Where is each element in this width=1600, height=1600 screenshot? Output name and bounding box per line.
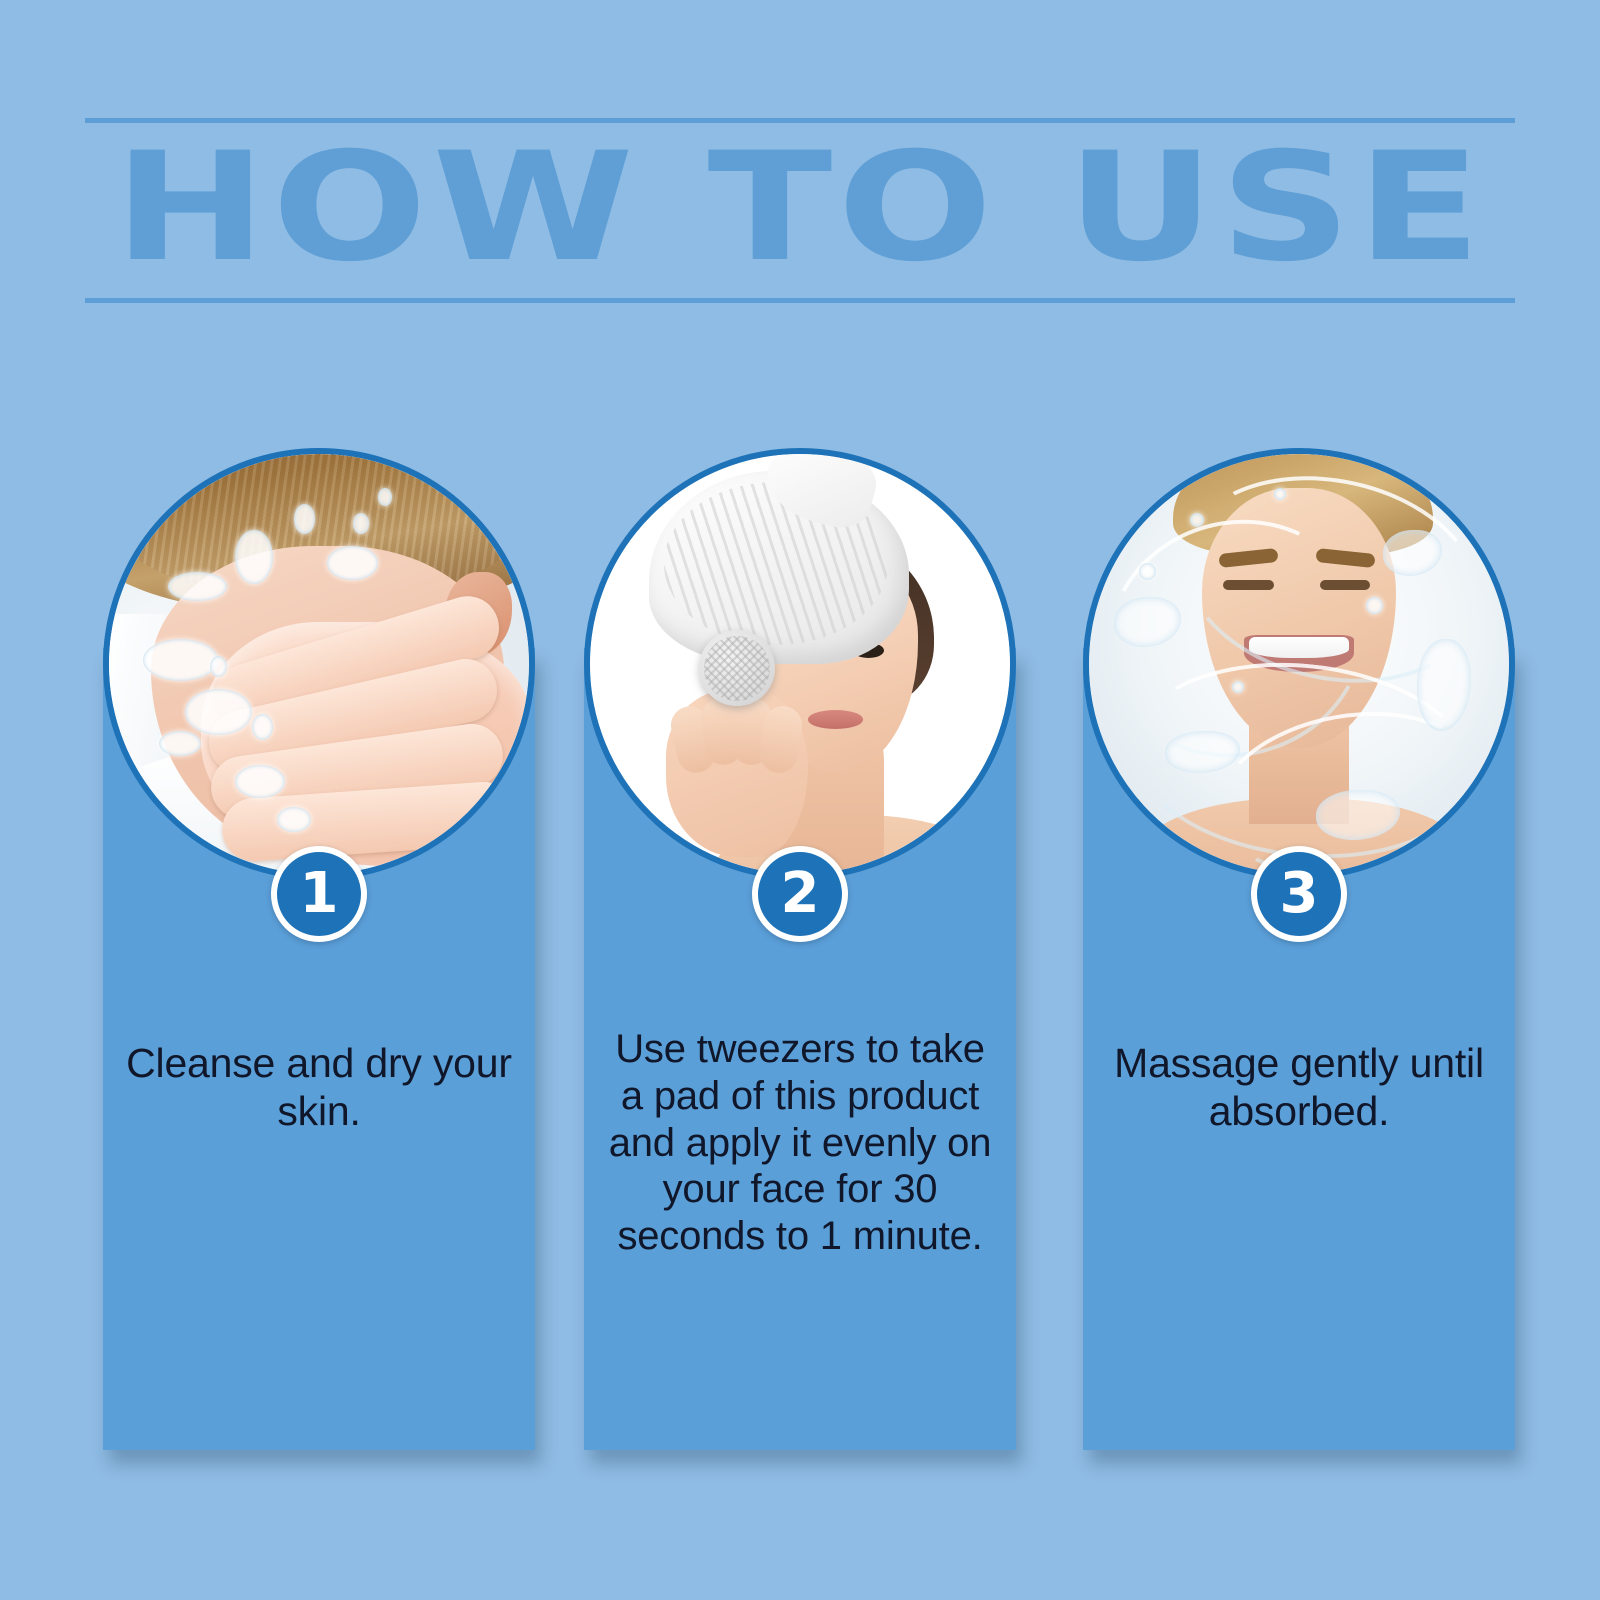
step-caption-1: Cleanse and dry your skin. xyxy=(121,1040,517,1136)
photo-frame-1 xyxy=(103,448,535,880)
massaging-face-photo xyxy=(1089,454,1509,874)
title-rule-bottom xyxy=(85,298,1515,303)
applying-pad-photo xyxy=(590,454,1010,874)
photo-frame-3 xyxy=(1083,448,1515,880)
step-caption-2: Use tweezers to take a pad of this produ… xyxy=(602,1026,998,1260)
cleansing-face-photo xyxy=(109,454,529,874)
how-to-use-infographic: HOW TO USE Cleanse and dry your skin. xyxy=(0,0,1600,1600)
step-badge-3: 3 xyxy=(1251,846,1347,942)
step-badge-1: 1 xyxy=(271,846,367,942)
photo-frame-2 xyxy=(584,448,1016,880)
step-media-3: 3 xyxy=(1083,448,1515,880)
header-block: HOW TO USE xyxy=(85,118,1515,303)
page-title: HOW TO USE xyxy=(0,124,1600,296)
step-badge-2: 2 xyxy=(752,846,848,942)
step-media-2: 2 xyxy=(584,448,1016,880)
step-caption-3: Massage gently until absorbed. xyxy=(1101,1040,1497,1136)
step-media-1: 1 xyxy=(103,448,535,880)
